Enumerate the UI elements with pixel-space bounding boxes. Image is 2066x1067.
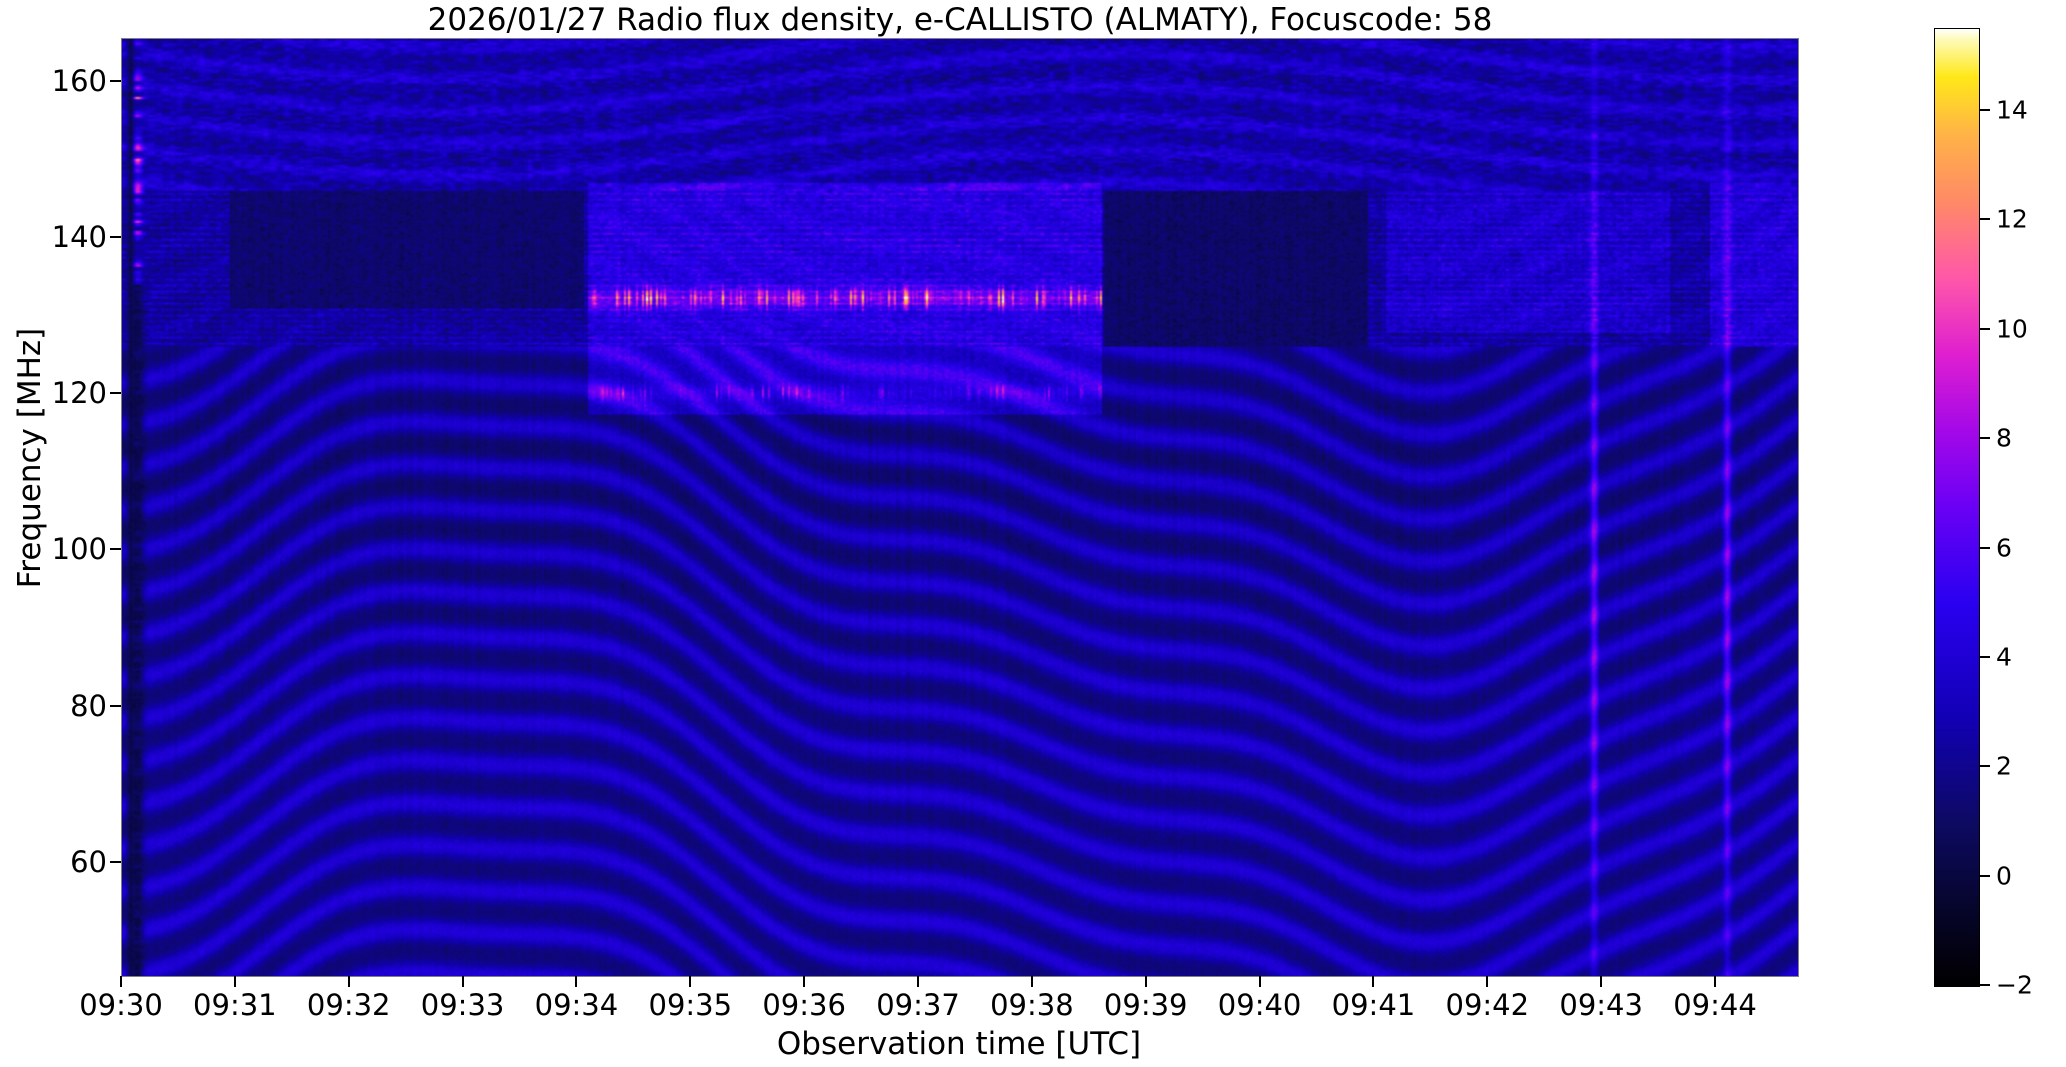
colorbar-tick-mark bbox=[1979, 218, 1990, 220]
colorbar-tick-label: 0 bbox=[1996, 861, 2012, 890]
colorbar-tick-mark bbox=[1979, 437, 1990, 439]
x-tick-label-09-33: 09:33 bbox=[421, 988, 505, 1022]
x-tick-label-09-41: 09:41 bbox=[1332, 988, 1416, 1022]
colorbar-tick-label: 10 bbox=[1996, 314, 2028, 343]
x-tick-label-09-38: 09:38 bbox=[990, 988, 1074, 1022]
x-tick-mark bbox=[1714, 976, 1716, 987]
x-tick-mark bbox=[1259, 976, 1261, 987]
colorbar-tick-mark bbox=[1979, 547, 1990, 549]
colorbar-tick-label: 2 bbox=[1996, 752, 2012, 781]
x-tick-label-09-34: 09:34 bbox=[535, 988, 619, 1022]
x-tick-mark bbox=[462, 976, 464, 987]
x-tick-mark bbox=[917, 976, 919, 987]
colorbar-tick-mark bbox=[1979, 984, 1990, 986]
x-tick-label-09-44: 09:44 bbox=[1673, 988, 1757, 1022]
colorbar-tick-label: 6 bbox=[1996, 533, 2012, 562]
colorbar-tick-label: 12 bbox=[1996, 205, 2028, 234]
colorbar-tick-mark bbox=[1979, 656, 1990, 658]
x-axis: 09:3009:3109:3209:3309:3409:3509:3609:37… bbox=[0, 0, 2066, 1067]
colorbar[interactable] bbox=[1934, 28, 1980, 987]
x-tick-mark bbox=[803, 976, 805, 987]
colorbar-tick-label: 14 bbox=[1996, 96, 2028, 125]
x-tick-label-09-42: 09:42 bbox=[1446, 988, 1530, 1022]
x-axis-label: Observation time [UTC] bbox=[121, 1026, 1797, 1062]
x-tick-mark bbox=[689, 976, 691, 987]
colorbar-tick-mark bbox=[1979, 109, 1990, 111]
colorbar-tick-mark bbox=[1979, 875, 1990, 877]
x-tick-mark bbox=[1031, 976, 1033, 987]
figure-root: 2026/01/27 Radio flux density, e-CALLIST… bbox=[0, 0, 2066, 1067]
x-tick-label-09-40: 09:40 bbox=[1218, 988, 1302, 1022]
x-tick-label-09-36: 09:36 bbox=[762, 988, 846, 1022]
x-tick-label-09-43: 09:43 bbox=[1559, 988, 1643, 1022]
x-tick-label-09-35: 09:35 bbox=[648, 988, 732, 1022]
x-tick-label-09-39: 09:39 bbox=[1104, 988, 1188, 1022]
colorbar-tick-mark bbox=[1979, 765, 1990, 767]
colorbar-tick-mark bbox=[1979, 328, 1990, 330]
x-tick-label-09-31: 09:31 bbox=[193, 988, 277, 1022]
x-tick-mark bbox=[1600, 976, 1602, 987]
colorbar-tick-label: −2 bbox=[1996, 971, 2033, 1000]
x-tick-mark bbox=[234, 976, 236, 987]
x-tick-label-09-37: 09:37 bbox=[876, 988, 960, 1022]
colorbar-tick-label: 8 bbox=[1996, 424, 2012, 453]
x-tick-mark bbox=[1372, 976, 1374, 987]
x-tick-mark bbox=[1486, 976, 1488, 987]
colorbar-gradient bbox=[1935, 29, 1979, 986]
x-tick-mark bbox=[575, 976, 577, 987]
x-tick-mark bbox=[1145, 976, 1147, 987]
x-tick-mark bbox=[348, 976, 350, 987]
x-tick-mark bbox=[120, 976, 122, 987]
x-tick-label-09-32: 09:32 bbox=[307, 988, 391, 1022]
x-tick-label-09-30: 09:30 bbox=[79, 988, 163, 1022]
colorbar-tick-label: 4 bbox=[1996, 642, 2012, 671]
